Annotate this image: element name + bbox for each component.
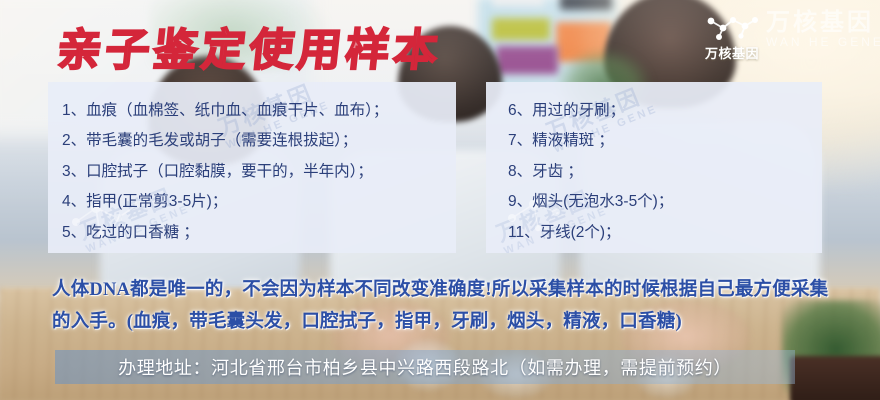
list-item: 11、牙线(2个)； [508,218,822,248]
sample-list-panel-left: 万核基因 WAN HE GENE 万核基因 WAN HE GENE 1、血痕（血… [48,82,456,253]
address-bar-text: 办理地址：河北省邢台市柏乡县中兴路西段路北（如需办理，需提前预约） [118,354,732,380]
page-title: 亲子鉴定使用样本 [55,14,446,78]
brand-logo[interactable]: 万核基因 [690,12,774,68]
list-item: 7、精液精斑 ； [508,126,822,156]
list-item: 6、用过的牙刷； [508,96,822,126]
note-paragraph: 人体DNA都是唯一的，不会因为样本不同改变准确度!所以采集样本的时候根据自己最方… [52,274,842,338]
note-line-1: 人体DNA都是唯一的，不会因为样本不同改变准确度!所以采集样本的时候根据自己最方… [52,274,842,306]
note-line-2: 的入手。(血痕，带毛囊头发，口腔拭子，指甲，牙刷，烟头，精液，口香糖) [52,306,842,338]
list-item: 9、烟头(无泡水3-5个)； [508,187,822,217]
list-item: 8、牙齿 ； [508,157,822,187]
list-item: 3、口腔拭子（口腔黏膜，要干的，半年内）； [62,157,456,187]
sample-list-left: 1、血痕（血棉签、纸巾血、血痕干片、血布）； 2、带毛囊的毛发或胡子（需要连根拔… [48,82,456,248]
molecule-icon [703,12,761,42]
list-item: 5、吃过的口香糖 ； [62,218,456,248]
sample-list-panel-right: 万核基因 WAN HE GENE 万核基因 WAN HE GENE 6、用过的牙… [486,82,822,253]
address-bar: 办理地址：河北省邢台市柏乡县中兴路西段路北（如需办理，需提前预约） [55,350,795,384]
list-item: 2、带毛囊的毛发或胡子（需要连根拔起）； [62,126,456,156]
sample-list-right: 6、用过的牙刷； 7、精液精斑 ； 8、牙齿 ； 9、烟头(无泡水3-5个)； … [486,82,822,248]
list-item: 1、血痕（血棉签、纸巾血、血痕干片、血布）； [62,96,456,126]
list-item: 4、指甲(正常剪3-5片)； [62,187,456,217]
brand-logo-label: 万核基因 [705,43,759,62]
